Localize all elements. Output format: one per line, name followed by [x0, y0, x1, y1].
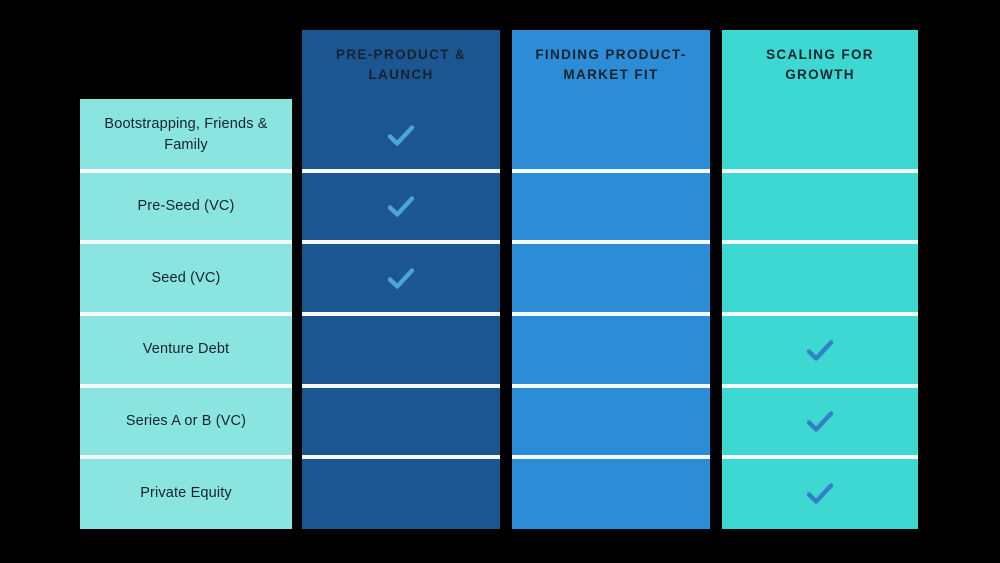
- row-label-text: Bootstrapping, Friends & Family: [94, 114, 278, 156]
- stage-column-pre-product-launch: PRE-PRODUCT & LAUNCH: [302, 30, 500, 531]
- stage-column-body: [722, 99, 918, 531]
- row-label-text: Pre-Seed (VC): [137, 196, 234, 217]
- matrix-cell: [302, 314, 500, 386]
- matrix-cell: [722, 99, 918, 171]
- stage-column-header: FINDING PRODUCT-MARKET FIT: [512, 30, 710, 99]
- matrix-cell: [722, 314, 918, 386]
- matrix-cell: [512, 314, 710, 386]
- matrix-cell: [512, 99, 710, 171]
- stage-column-finding-product-market-fit: FINDING PRODUCT-MARKET FIT: [512, 30, 710, 531]
- check-icon: [803, 404, 837, 438]
- stage-column-scaling-for-growth: SCALING FOR GROWTH: [722, 30, 918, 531]
- stage-column-header: SCALING FOR GROWTH: [722, 30, 918, 99]
- row-label-text: Series A or B (VC): [126, 411, 246, 432]
- row-label-text: Seed (VC): [151, 268, 220, 289]
- matrix-cell: [722, 171, 918, 243]
- row-label: Series A or B (VC): [80, 386, 292, 458]
- funding-stage-matrix: Bootstrapping, Friends & Family Pre-Seed…: [80, 30, 918, 531]
- row-label: Venture Debt: [80, 314, 292, 386]
- row-label-text: Private Equity: [140, 483, 232, 504]
- matrix-cell: [512, 386, 710, 458]
- stage-column-body: [302, 99, 500, 531]
- check-icon: [803, 476, 837, 510]
- row-label-text: Venture Debt: [143, 339, 229, 360]
- check-icon: [803, 333, 837, 367]
- matrix-cell: [512, 171, 710, 243]
- matrix-cell: [512, 242, 710, 314]
- stage-column-body: [512, 99, 710, 531]
- row-label: Seed (VC): [80, 242, 292, 314]
- matrix-label-column: Bootstrapping, Friends & Family Pre-Seed…: [80, 30, 292, 531]
- matrix-cell: [722, 242, 918, 314]
- matrix-cell: [302, 457, 500, 529]
- stage-column-header: PRE-PRODUCT & LAUNCH: [302, 30, 500, 99]
- matrix-cell: [302, 99, 500, 171]
- matrix-cell: [302, 171, 500, 243]
- matrix-cell: [302, 386, 500, 458]
- row-label: Bootstrapping, Friends & Family: [80, 99, 292, 171]
- matrix-cell: [722, 386, 918, 458]
- matrix-cell: [302, 242, 500, 314]
- matrix-cell: [722, 457, 918, 529]
- check-icon: [384, 189, 418, 223]
- check-icon: [384, 118, 418, 152]
- row-label: Pre-Seed (VC): [80, 171, 292, 243]
- row-label: Private Equity: [80, 457, 292, 529]
- label-column-header: [80, 30, 292, 99]
- check-icon: [384, 261, 418, 295]
- matrix-cell: [512, 457, 710, 529]
- label-column-body: Bootstrapping, Friends & Family Pre-Seed…: [80, 99, 292, 531]
